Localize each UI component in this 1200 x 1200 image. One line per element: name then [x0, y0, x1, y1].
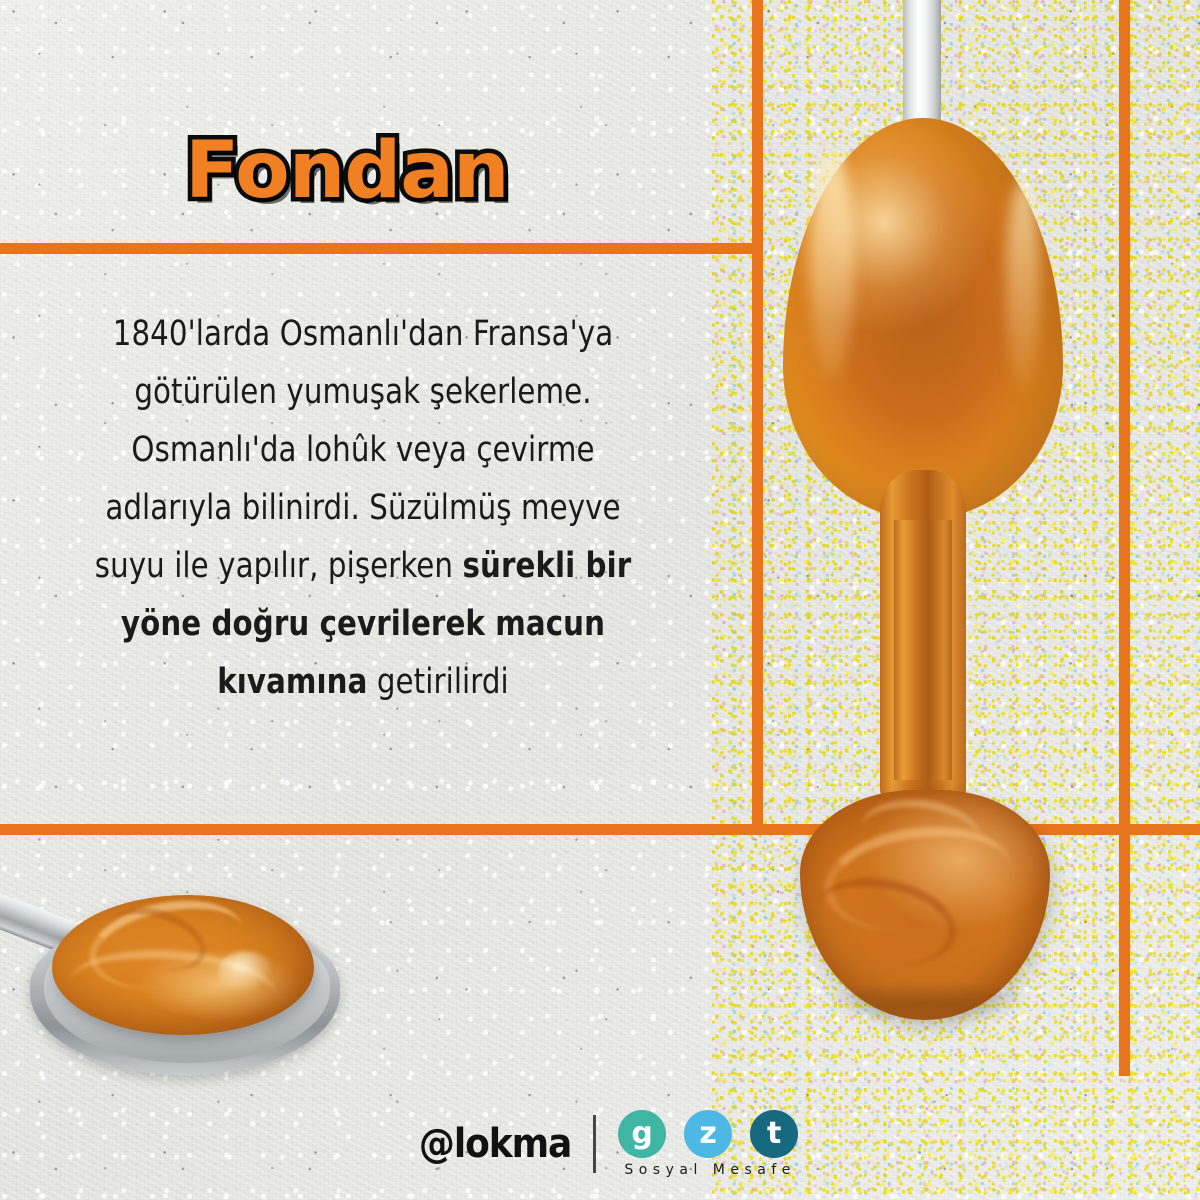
footer-divider [593, 1115, 596, 1173]
spoon-illustration [0, 855, 360, 1105]
poster-canvas: Fondan 1840'larda Osmanlı'dan Fransa'ya … [0, 0, 1200, 1200]
brand-logo[interactable]: g z t Sosyal Mesafe [618, 1110, 798, 1178]
brand-letter-g: g [618, 1110, 666, 1158]
caramel-highlight-left [810, 150, 854, 380]
brand-letter-z: z [684, 1110, 732, 1158]
caramel-drip-illustration [770, 0, 1100, 1060]
caramel-highlight-right [1006, 180, 1040, 390]
caramel-stream-core [894, 520, 952, 780]
page-title: Fondan [185, 132, 509, 210]
fondant-gloss-highlight [218, 951, 274, 993]
divider-rule-vertical-left [752, 0, 763, 835]
brand-letter-t: t [750, 1110, 798, 1158]
social-handle[interactable]: @lokma [419, 1121, 571, 1167]
brand-letter-circles: g z t [618, 1110, 798, 1158]
divider-rule-vertical-right [1119, 0, 1130, 1076]
divider-rule-top [0, 243, 752, 254]
caramel-pool-shadow [818, 980, 1034, 1024]
footer-bar: @lokma g z t Sosyal Mesafe [0, 1110, 1200, 1178]
brand-tagline: Sosyal Mesafe [620, 1162, 796, 1178]
body-paragraph: 1840'larda Osmanlı'dan Fransa'ya götürül… [70, 305, 656, 711]
